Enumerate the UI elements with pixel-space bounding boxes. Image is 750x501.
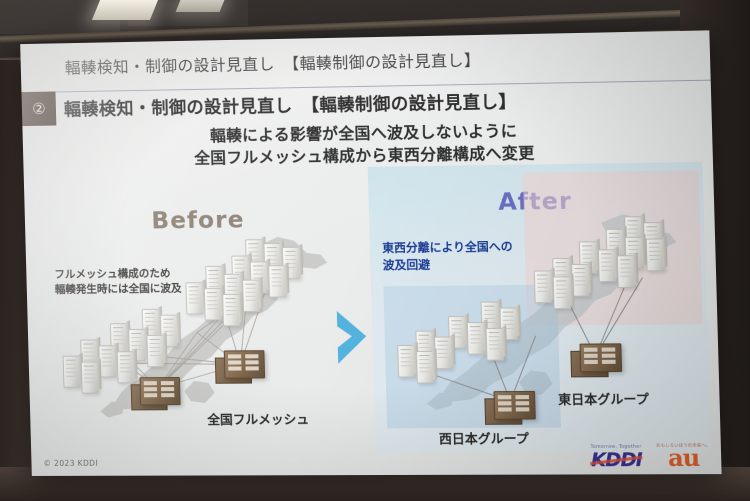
server-rack-icon [486,328,505,361]
datacenter-icon [224,350,263,376]
slide-header-text: 輻輳検知・制御の設計見直し 【輻輳制御の設計見直し】 [65,48,481,78]
logo-group: Tomorrow, Together KDDI おもしろいほうの未来へ。 au [590,443,711,471]
slide: 輻輳検知・制御の設計見直し 【輻輳制御の設計見直し】 ② 輻輳検知・制御の設計見… [20,30,721,476]
server-rack-icon [646,238,665,271]
before-panel: Before フルメッシュ構成のため 輻輳発生時には全国に波及 [42,179,361,442]
photo-of-projected-slide: 輻輳検知・制御の設計見直し 【輻輳制御の設計見直し】 ② 輻輳検知・制御の設計見… [0,0,750,501]
server-rack-icon [222,294,240,326]
server-rack-icon [534,270,553,303]
server-rack-icon [397,345,415,378]
ceiling-light [92,0,158,20]
kddi-wordmark: KDDI [591,451,642,471]
ceiling-light [176,0,225,12]
server-rack-icon [63,356,81,388]
projection-screen: 輻輳検知・制御の設計見直し 【輻輳制御の設計見直し】 ② 輻輳検知・制御の設計見… [20,30,721,476]
server-rack-icon [204,288,222,320]
server-rack-icon [242,280,260,312]
section-number-label: ② [32,101,46,116]
server-rack-icon [416,351,434,384]
datacenter-icon [494,391,534,418]
server-rack-icon [146,335,164,367]
after-caption-east: 東日本グループ [558,388,649,408]
server-rack-icon [117,351,135,383]
after-panel: After 東西分離により全国への 波及回避 [368,162,711,453]
after-caption-west: 西日本グループ [439,428,529,448]
chevron-right-icon [331,309,374,366]
datacenter-icon [580,343,620,370]
server-rack-icon [268,265,286,297]
server-rack-icon [617,255,636,288]
server-rack-icon [553,276,572,309]
server-rack-icon [185,282,203,314]
section-number-badge: ② [21,91,56,126]
page-title: 輻輳検知・制御の設計見直し 【輻輳制御の設計見直し】 [64,87,517,120]
kddi-logo: Tomorrow, Together KDDI [590,445,642,471]
datacenter-icon [140,377,179,403]
au-logo: おもしろいほうの未来へ。 au [656,443,711,471]
server-rack-icon [467,322,485,355]
au-wordmark: au [656,449,711,470]
copyright-notice: © 2023 KDDI [43,459,98,468]
before-caption: 全国フルメッシュ [207,408,309,428]
server-rack-icon [598,249,617,282]
server-rack-icon [81,361,99,393]
